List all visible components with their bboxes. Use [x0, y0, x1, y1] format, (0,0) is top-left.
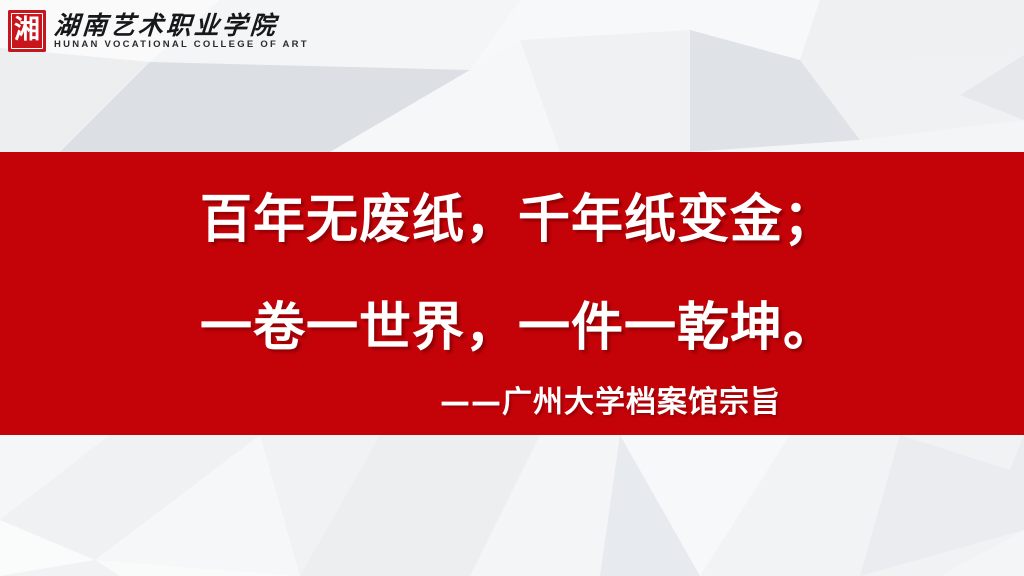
college-logo: 湘 湖南艺术职业学院 HUNAN VOCATIONAL COLLEGE OF A…	[8, 10, 309, 52]
quote-banner: 百年无废纸，千年纸变金； 一卷一世界，一件一乾坤。 ——广州大学档案馆宗旨	[0, 152, 1024, 435]
seal-character: 湘	[8, 10, 46, 51]
quote-banner-inner: 百年无废纸，千年纸变金； 一卷一世界，一件一乾坤。 ——广州大学档案馆宗旨	[0, 152, 1024, 435]
presentation-slide: 湘 湖南艺术职业学院 HUNAN VOCATIONAL COLLEGE OF A…	[0, 0, 1024, 576]
seal-stamp-icon: 湘	[8, 10, 46, 52]
college-name-chinese: 湖南艺术职业学院	[53, 13, 310, 39]
quote-line-1: 百年无废纸，千年纸变金；	[200, 194, 836, 246]
college-name-english: HUNAN VOCATIONAL COLLEGE OF ART	[54, 40, 309, 50]
quote-line-2: 一卷一世界，一件一乾坤。	[200, 302, 836, 354]
quote-attribution: ——广州大学档案馆宗旨	[440, 388, 781, 418]
logo-text-group: 湖南艺术职业学院 HUNAN VOCATIONAL COLLEGE OF ART	[54, 13, 309, 50]
